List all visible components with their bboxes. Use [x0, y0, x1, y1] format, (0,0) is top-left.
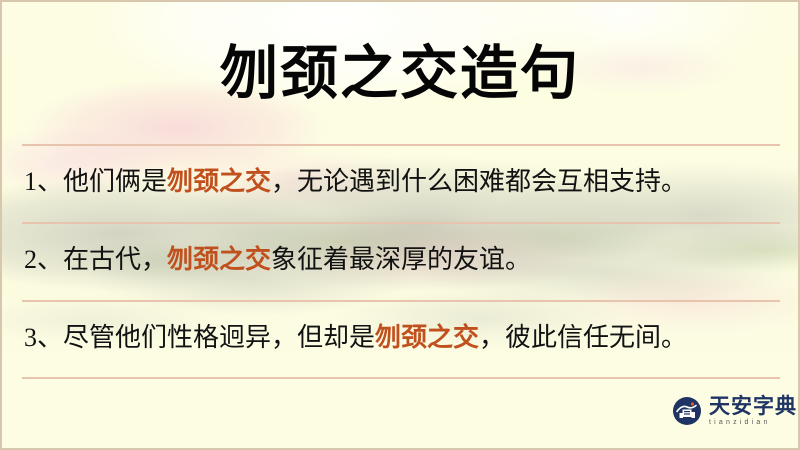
example-sentence-2: 2、在古代，刎颈之交象征着最深厚的友谊。	[24, 243, 780, 277]
sentence-2-keyword: 刎颈之交	[167, 245, 271, 274]
divider-rule-1	[22, 144, 780, 146]
sentence-1-keyword: 刎颈之交	[167, 167, 271, 196]
brand-logo: 天安字典 tianzidian	[672, 396, 797, 426]
slide-content: 刎颈之交造句 1、他们俩是刎颈之交，无论遇到什么困难都会互相支持。 2、在古代，…	[2, 2, 798, 448]
sentence-2-after: 象征着最深厚的友谊。	[271, 245, 531, 274]
sentence-3-before: 尽管他们性格迥异，但却是	[63, 323, 375, 352]
brand-pinyin: tianzidian	[709, 419, 797, 426]
divider-rule-2	[22, 222, 780, 224]
brand-name: 天安字典	[709, 396, 797, 417]
sentence-3-after: ，彼此信任无间。	[479, 323, 687, 352]
sentence-3-number: 3、	[24, 323, 63, 352]
page-title: 刎颈之交造句	[2, 40, 798, 108]
example-sentence-3: 3、尽管他们性格迥异，但却是刎颈之交，彼此信任无间。	[24, 321, 780, 355]
divider-rule-3	[22, 300, 780, 302]
sentence-2-number: 2、	[24, 245, 63, 274]
slide-canvas: 刎颈之交造句 1、他们俩是刎颈之交，无论遇到什么困难都会互相支持。 2、在古代，…	[0, 0, 800, 450]
brand-logo-text: 天安字典 tianzidian	[709, 396, 797, 426]
sentence-2-before: 在古代，	[63, 245, 167, 274]
sentence-1-number: 1、	[24, 167, 63, 196]
circular-seal-emblem-icon	[672, 396, 702, 426]
divider-rule-4	[22, 377, 780, 379]
sentence-1-before: 他们俩是	[63, 167, 167, 196]
example-sentence-1: 1、他们俩是刎颈之交，无论遇到什么困难都会互相支持。	[24, 165, 780, 199]
sentence-3-keyword: 刎颈之交	[375, 323, 479, 352]
sentence-1-after: ，无论遇到什么困难都会互相支持。	[271, 167, 687, 196]
